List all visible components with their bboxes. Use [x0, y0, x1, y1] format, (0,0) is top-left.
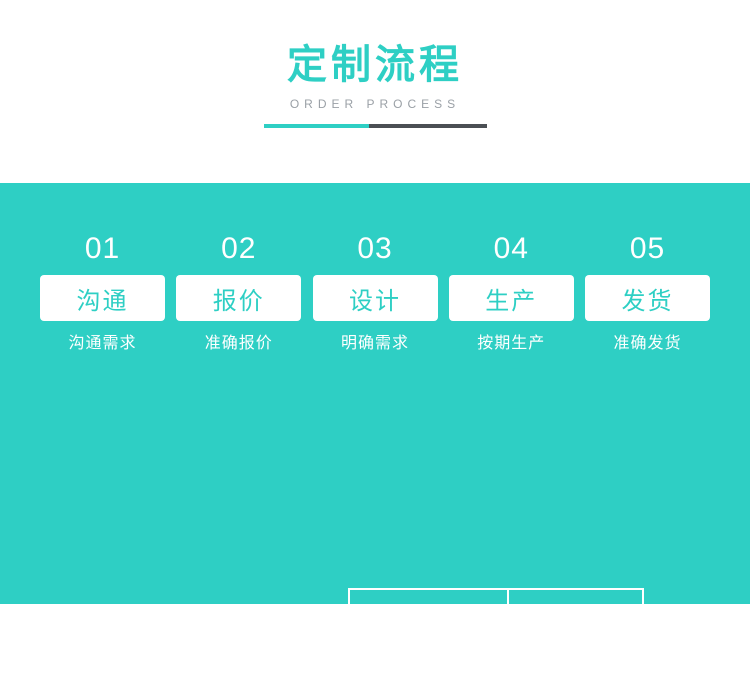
step-number: 03 [313, 231, 438, 267]
custom-note-2: 来图定制 [443, 621, 573, 649]
process-steps: 01 沟通 沟通需求 02 报价 准确报价 03 设计 明确需求 04 生产 [40, 231, 710, 355]
step-box: 设计 [313, 275, 438, 321]
step-number: 01 [40, 231, 165, 267]
step-label: 生产 [485, 281, 537, 316]
step-number: 02 [176, 231, 301, 267]
process-step-03: 03 设计 明确需求 [313, 231, 438, 355]
bracket-tick-1 [348, 588, 350, 613]
step-label: 报价 [213, 281, 265, 316]
process-panel: 01 沟通 沟通需求 02 报价 准确报价 03 设计 明确需求 04 生产 [0, 183, 750, 604]
connector-bracket [348, 588, 644, 614]
step-box: 发货 [585, 275, 710, 321]
step-description: 准确发货 [585, 333, 710, 355]
process-step-02: 02 报价 准确报价 [176, 231, 301, 355]
custom-note-3: 来样定制 [580, 621, 710, 649]
process-step-04: 04 生产 按期生产 [449, 231, 574, 355]
bracket-tick-3 [642, 588, 644, 613]
process-step-01: 01 沟通 沟通需求 [40, 231, 165, 355]
step-number: 05 [585, 231, 710, 267]
step-box: 报价 [176, 275, 301, 321]
step-box: 沟通 [40, 275, 165, 321]
page-subtitle: ORDER PROCESS [0, 95, 750, 113]
step-box: 生产 [449, 275, 574, 321]
step-description: 准确报价 [176, 333, 301, 355]
custom-note-1: 根据客户要求进行定制 [276, 621, 424, 677]
step-label: 发货 [622, 281, 674, 316]
accent-rule-left [264, 124, 369, 128]
accent-rule-right [369, 124, 487, 128]
step-number: 04 [449, 231, 574, 267]
bracket-horizontal-line [348, 588, 644, 590]
step-description: 明确需求 [313, 333, 438, 355]
process-step-05: 05 发货 准确发货 [585, 231, 710, 355]
header: 定制流程 ORDER PROCESS [0, 0, 750, 183]
page-title: 定制流程 [0, 41, 750, 89]
bracket-tick-2 [507, 588, 509, 613]
step-description: 按期生产 [449, 333, 574, 355]
step-label: 沟通 [77, 281, 129, 316]
step-description: 沟通需求 [40, 333, 165, 355]
step-label: 设计 [349, 281, 401, 316]
